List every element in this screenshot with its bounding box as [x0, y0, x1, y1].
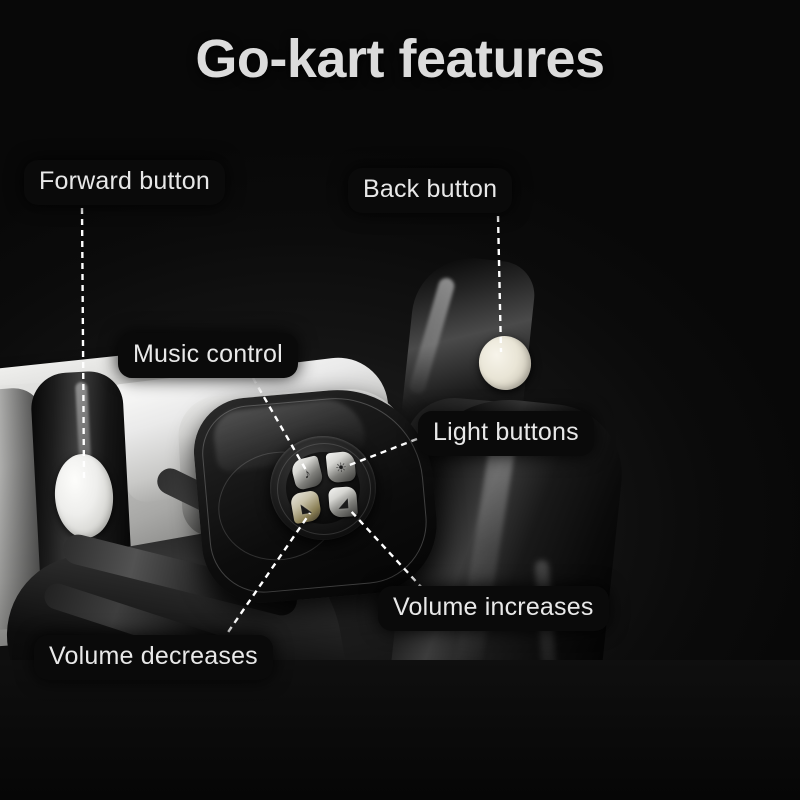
callout-label: Forward button [39, 167, 210, 195]
callout-volume-increases: Volume increases [378, 586, 609, 631]
callout-light-buttons: Light buttons [418, 411, 594, 456]
page-title: Go-kart features [0, 28, 800, 90]
light-icon: ☀ [335, 460, 348, 474]
callout-label: Volume decreases [49, 642, 258, 670]
light-button[interactable]: ☀ [326, 451, 357, 484]
callout-forward-button: Forward button [24, 160, 225, 205]
callout-music-control: Music control [118, 333, 298, 378]
callout-back-button: Back button [348, 168, 512, 213]
callout-label: Light buttons [433, 418, 579, 446]
callout-label: Music control [133, 340, 283, 368]
callout-label: Volume increases [393, 593, 594, 621]
volume-down-icon: ◣ [300, 500, 312, 515]
callout-volume-decreases: Volume decreases [34, 635, 273, 680]
volume-up-button[interactable]: ◢ [328, 486, 358, 518]
music-note-icon: ♪ [302, 466, 311, 480]
steering-wheel-photo: ♪ ☀ ◣ ◢ [0, 0, 800, 800]
photo-foreground-shadow [0, 660, 800, 800]
volume-up-icon: ◢ [338, 495, 349, 509]
go-kart-features-infographic: ♪ ☀ ◣ ◢ Go-kart features Forward button … [0, 0, 800, 800]
callout-label: Back button [363, 175, 497, 203]
